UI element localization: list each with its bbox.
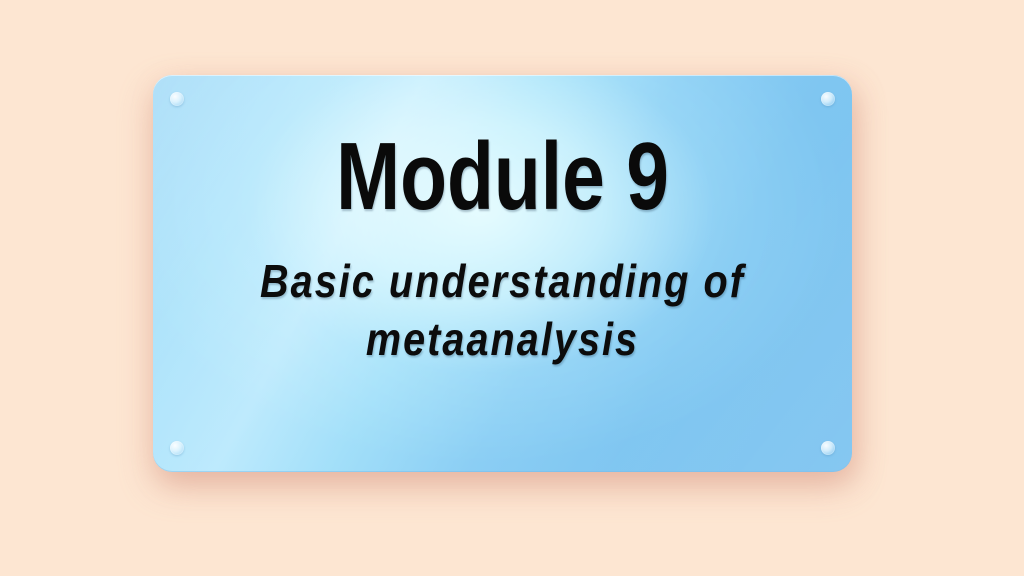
slide-subtitle-line-1: Basic understanding of <box>221 253 784 311</box>
rivet-screw-icon-bottom-left <box>170 441 184 455</box>
slide-title: Module 9 <box>241 127 765 227</box>
slide-canvas: Module 9 Basic understanding of metaanal… <box>0 0 1024 576</box>
rivet-screw-icon-bottom-right <box>821 441 835 455</box>
slide-text-block: Module 9 Basic understanding of metaanal… <box>153 127 852 369</box>
slide-subtitle: Basic understanding of metaanalysis <box>221 253 784 369</box>
blue-plaque-card: Module 9 Basic understanding of metaanal… <box>153 75 852 472</box>
rivet-screw-icon-top-left <box>170 92 184 106</box>
rivet-screw-icon-top-right <box>821 92 835 106</box>
slide-subtitle-line-2: metaanalysis <box>221 311 784 369</box>
